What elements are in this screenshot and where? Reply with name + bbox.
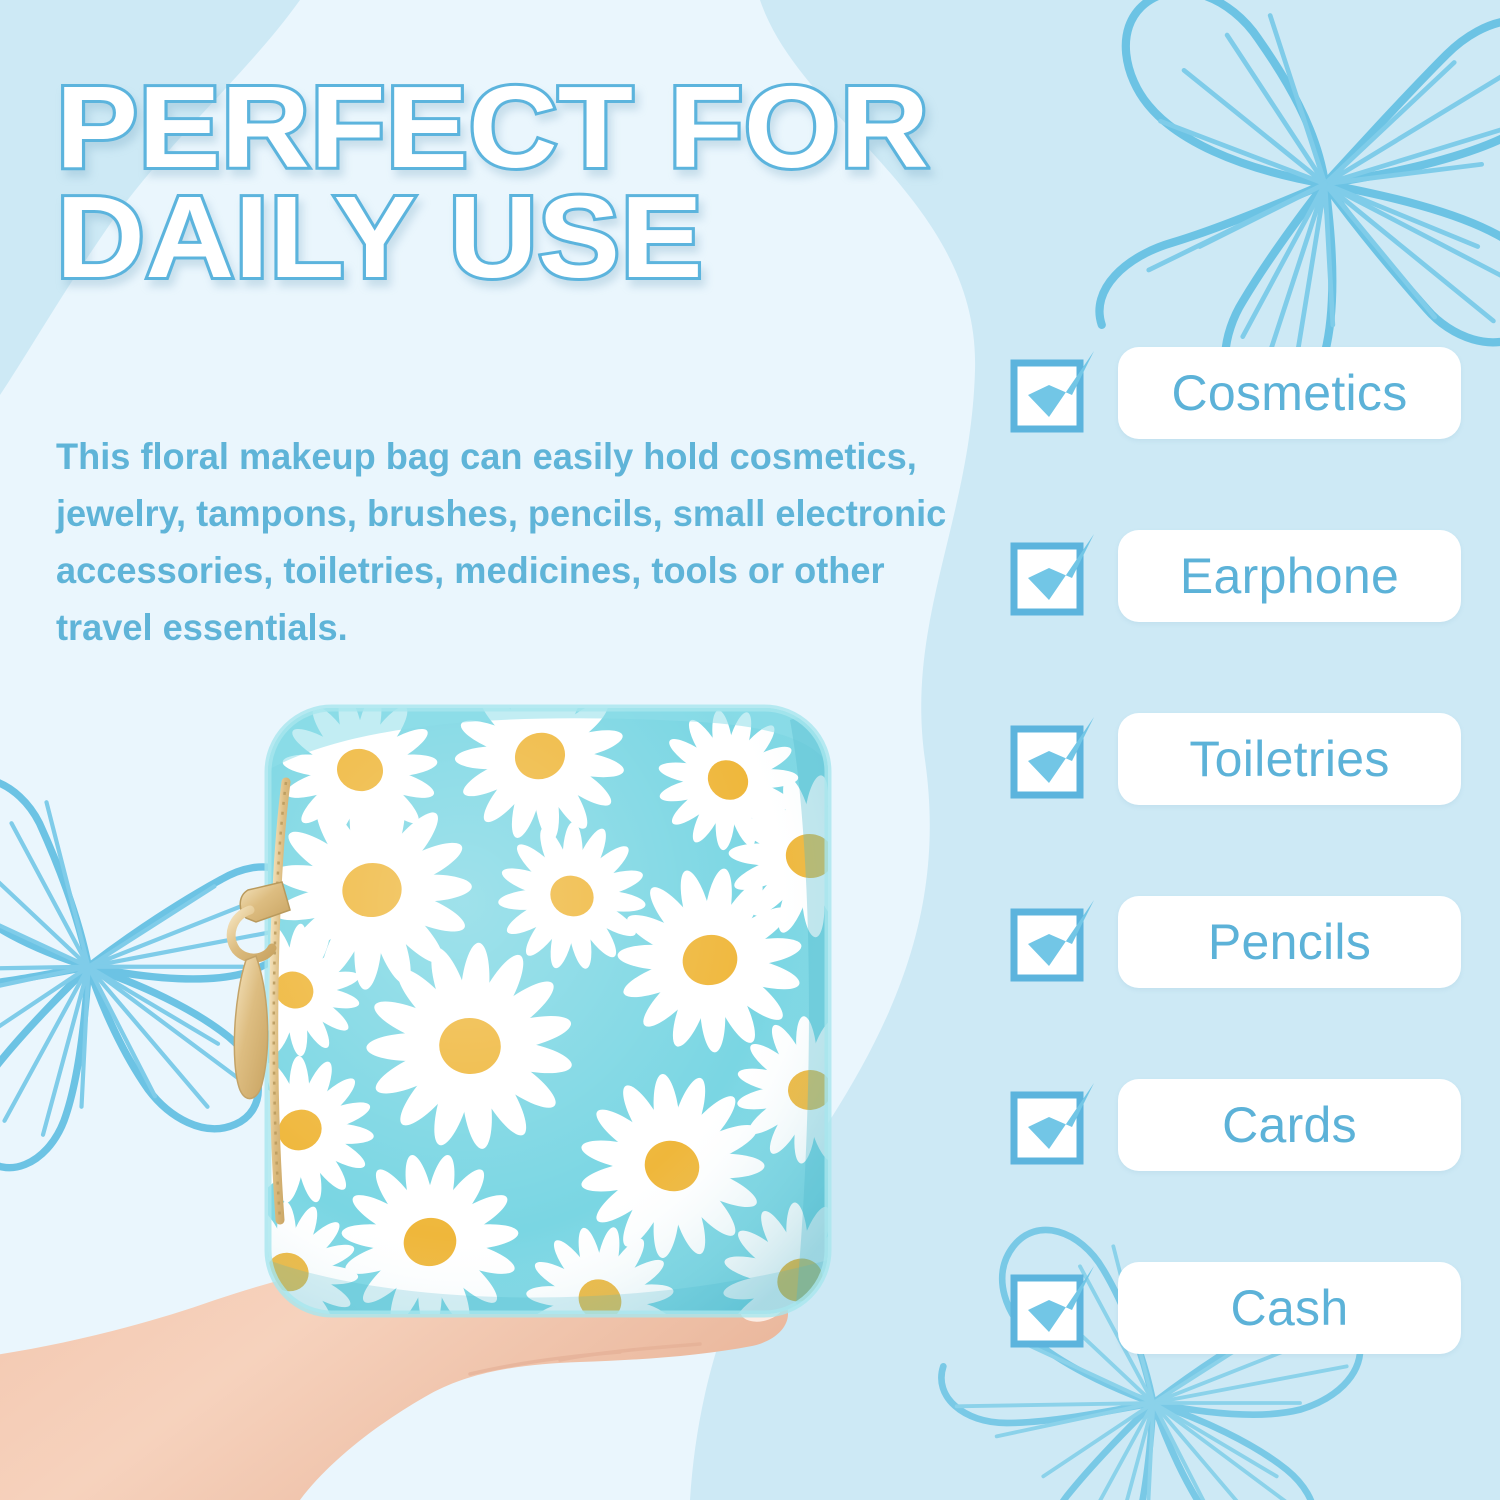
checkbox-checked-icon[interactable]: [1008, 530, 1100, 622]
list-item-label: Toiletries: [1189, 734, 1389, 784]
list-item-label: Earphone: [1180, 551, 1399, 601]
feature-pill[interactable]: Cash: [1118, 1262, 1461, 1354]
list-item-label: Cards: [1222, 1100, 1357, 1150]
feature-pill[interactable]: Pencils: [1118, 896, 1461, 988]
headline-line-1: PERFECT FOR: [56, 72, 1116, 182]
promo-image: PERFECT FOR DAILY USE This floral makeup…: [0, 0, 1500, 1500]
checkbox-checked-icon[interactable]: [1008, 347, 1100, 439]
feature-pill[interactable]: Cards: [1118, 1079, 1461, 1171]
list-item[interactable]: Cards: [1008, 1077, 1468, 1173]
description-text: This floral makeup bag can easily hold c…: [56, 428, 968, 656]
checkbox-checked-icon[interactable]: [1008, 713, 1100, 805]
list-item[interactable]: Toiletries: [1008, 711, 1468, 807]
headline-line-2: DAILY USE: [56, 182, 1116, 292]
checkbox-checked-icon[interactable]: [1008, 896, 1100, 988]
feature-pill[interactable]: Toiletries: [1118, 713, 1461, 805]
product-photo: [0, 660, 900, 1500]
list-item-label: Cosmetics: [1171, 368, 1407, 418]
list-item-label: Cash: [1231, 1283, 1349, 1333]
feature-pill[interactable]: Cosmetics: [1118, 347, 1461, 439]
list-item-label: Pencils: [1208, 917, 1371, 967]
page-title: PERFECT FOR DAILY USE: [56, 72, 1116, 292]
list-item[interactable]: Cosmetics: [1008, 345, 1468, 441]
feature-checklist: Cosmetics Earphone Toiletr: [1008, 345, 1468, 1356]
list-item[interactable]: Pencils: [1008, 894, 1468, 990]
checkbox-checked-icon[interactable]: [1008, 1262, 1100, 1354]
daisy-print-makeup-bag: [196, 660, 900, 1404]
checkbox-checked-icon[interactable]: [1008, 1079, 1100, 1171]
feature-pill[interactable]: Earphone: [1118, 530, 1461, 622]
list-item[interactable]: Earphone: [1008, 528, 1468, 624]
list-item[interactable]: Cash: [1008, 1260, 1468, 1356]
